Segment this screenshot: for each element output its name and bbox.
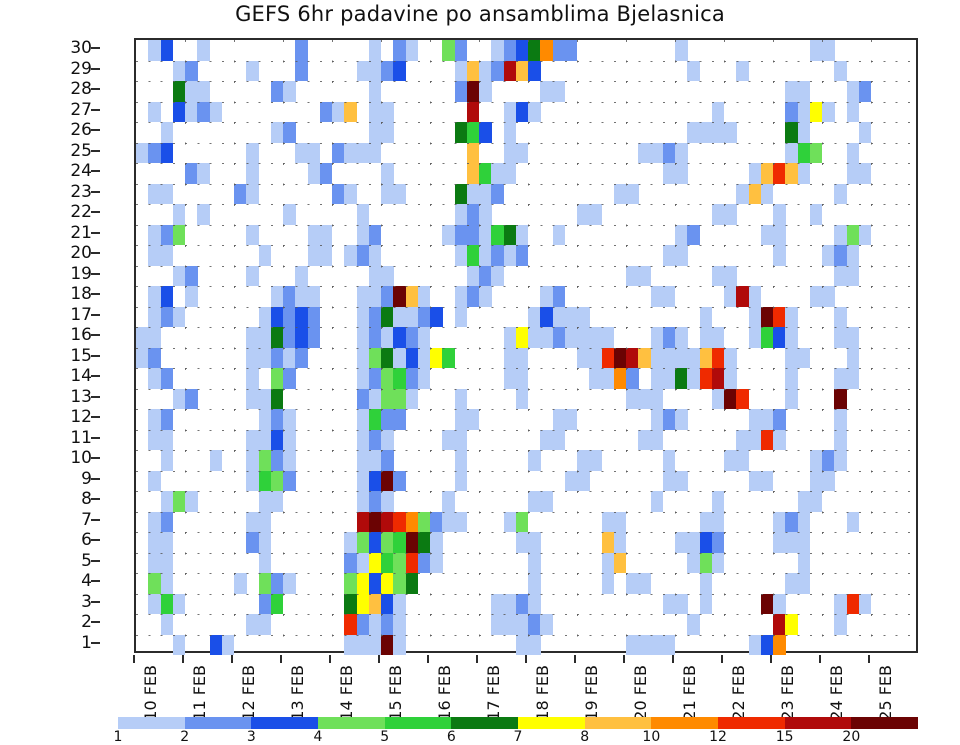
heatmap-cell <box>369 635 382 656</box>
heatmap-cell <box>246 143 259 164</box>
x-tick-mark <box>819 655 821 663</box>
heatmap-cell <box>161 307 174 328</box>
heatmap-cell <box>651 430 664 451</box>
heatmap-cell <box>700 553 713 574</box>
heatmap-cell <box>491 184 504 205</box>
heatmap-cell <box>516 225 529 246</box>
heatmap-cell <box>308 225 321 246</box>
heatmap-cell <box>357 594 370 615</box>
heatmap-cell <box>528 450 541 471</box>
heatmap-cell <box>516 532 529 553</box>
y-tick-label: 5 <box>32 551 92 571</box>
heatmap-cell <box>798 573 811 594</box>
heatmap-cell <box>259 532 272 553</box>
heatmap-cell <box>283 307 296 328</box>
heatmap-cell <box>406 286 419 307</box>
x-tick-mark <box>280 655 282 663</box>
heatmap-cell <box>185 491 198 512</box>
heatmap-cell <box>246 450 259 471</box>
heatmap-cell <box>614 553 627 574</box>
heatmap-cell <box>822 40 835 61</box>
heatmap-cell <box>344 614 357 635</box>
heatmap-cell <box>369 368 382 389</box>
heatmap-cell <box>344 184 357 205</box>
heatmap-cell <box>761 307 774 328</box>
heatmap-cell <box>540 286 553 307</box>
heatmap-cell <box>271 491 284 512</box>
heatmap-cell <box>161 122 174 143</box>
heatmap-cell <box>651 409 664 430</box>
y-tick-mark <box>91 355 100 357</box>
heatmap-cell <box>773 163 786 184</box>
heatmap-cell <box>271 286 284 307</box>
y-tick-label: 12 <box>32 407 92 427</box>
heatmap-cell <box>712 553 725 574</box>
heatmap-cell <box>773 430 786 451</box>
heatmap-cell <box>259 307 272 328</box>
x-tick-label: 16 FEB <box>435 665 454 721</box>
x-tick-mark <box>623 655 625 663</box>
heatmap-cell <box>834 368 847 389</box>
heatmap-cell <box>442 491 455 512</box>
heatmap-cell <box>822 450 835 471</box>
heatmap-cell <box>651 635 664 656</box>
heatmap-cell <box>369 409 382 430</box>
heatmap-cell <box>504 348 517 369</box>
heatmap-cell <box>283 286 296 307</box>
heatmap-cell <box>148 368 161 389</box>
heatmap-cell <box>785 532 798 553</box>
heatmap-cell <box>381 573 394 594</box>
heatmap-cell <box>638 635 651 656</box>
heatmap-cell <box>234 573 247 594</box>
heatmap-cell <box>761 430 774 451</box>
y-tick-mark <box>91 539 100 541</box>
colorbar-labels: 1234567810121520 <box>118 729 918 745</box>
heatmap-cell <box>651 491 664 512</box>
heatmap-cell <box>773 204 786 225</box>
y-tick-mark <box>91 580 100 582</box>
heatmap-cell <box>148 286 161 307</box>
heatmap-cell <box>430 348 443 369</box>
y-tick-mark <box>91 478 100 480</box>
heatmap-cell <box>773 614 786 635</box>
y-tick-label: 11 <box>32 428 92 448</box>
heatmap-cell <box>651 348 664 369</box>
heatmap-cell <box>344 245 357 266</box>
x-tick-label: 20 FEB <box>631 665 650 721</box>
y-tick-mark <box>91 293 100 295</box>
heatmap-cell <box>651 286 664 307</box>
heatmap-cell <box>393 532 406 553</box>
heatmap-cell <box>847 102 860 123</box>
heatmap-cell <box>185 286 198 307</box>
heatmap-cell <box>847 81 860 102</box>
heatmap-cell <box>834 430 847 451</box>
y-tick-label: 19 <box>32 264 92 284</box>
heatmap-cell <box>320 102 333 123</box>
heatmap-cell <box>736 61 749 82</box>
heatmap-cell <box>369 389 382 410</box>
heatmap-cell <box>148 143 161 164</box>
colorbar-segment <box>851 717 918 729</box>
heatmap-cell <box>700 368 713 389</box>
colorbar-tick-label: 8 <box>580 729 589 745</box>
heatmap-cell <box>283 430 296 451</box>
heatmap-cell <box>161 225 174 246</box>
heatmap-cell <box>308 143 321 164</box>
heatmap-cell <box>724 266 737 287</box>
heatmap-cell <box>295 40 308 61</box>
heatmap-cell <box>148 40 161 61</box>
heatmap-cell <box>357 491 370 512</box>
heatmap-cell <box>724 348 737 369</box>
heatmap-cell <box>565 327 578 348</box>
heatmap-cell <box>528 102 541 123</box>
heatmap-cell <box>283 348 296 369</box>
heatmap-cell <box>369 81 382 102</box>
heatmap-cell <box>271 573 284 594</box>
heatmap-cell <box>687 348 700 369</box>
heatmap-cell <box>418 307 431 328</box>
heatmap-cell <box>626 635 639 656</box>
heatmap-cell <box>369 245 382 266</box>
colorbar-segment <box>318 717 385 729</box>
x-tick-label: 18 FEB <box>533 665 552 721</box>
heatmap-cell <box>602 512 615 533</box>
heatmap-cell <box>687 225 700 246</box>
heatmap-cell <box>700 348 713 369</box>
y-tick-mark <box>91 232 100 234</box>
heatmap-cell <box>589 348 602 369</box>
y-tick-mark <box>91 334 100 336</box>
heatmap-cell <box>847 143 860 164</box>
heatmap-cell <box>185 61 198 82</box>
heatmap-cell <box>675 225 688 246</box>
heatmap-cell <box>455 81 468 102</box>
heatmap-cell <box>406 532 419 553</box>
heatmap-cell <box>161 286 174 307</box>
colorbar-segment <box>451 717 518 729</box>
heatmap-cell <box>271 471 284 492</box>
heatmap-cell <box>381 163 394 184</box>
heatmap-cell <box>773 594 786 615</box>
heatmap-cell <box>369 225 382 246</box>
heatmap-cell <box>148 512 161 533</box>
colorbar-segment <box>385 717 452 729</box>
heatmap-cell <box>381 471 394 492</box>
heatmap-cell <box>651 389 664 410</box>
heatmap-cell <box>540 327 553 348</box>
heatmap-cell <box>393 512 406 533</box>
heatmap-cell <box>577 204 590 225</box>
x-tick-mark <box>721 655 723 663</box>
heatmap-cell <box>663 409 676 430</box>
heatmap-cell <box>516 512 529 533</box>
heatmap-cell <box>491 40 504 61</box>
heatmap-cell <box>602 532 615 553</box>
heatmap-cell <box>418 286 431 307</box>
y-tick-label: 1 <box>32 633 92 653</box>
heatmap-cell <box>479 245 492 266</box>
heatmap-cell <box>197 204 210 225</box>
heatmap-cell <box>675 163 688 184</box>
y-tick-label: 9 <box>32 469 92 489</box>
heatmap-cell <box>773 245 786 266</box>
heatmap-cell <box>381 450 394 471</box>
heatmap-cell <box>357 204 370 225</box>
heatmap-cell <box>259 245 272 266</box>
heatmap-cell <box>246 471 259 492</box>
heatmap-cell <box>785 307 798 328</box>
heatmap-cell <box>246 368 259 389</box>
heatmap-cell <box>504 327 517 348</box>
heatmap-cell <box>295 143 308 164</box>
heatmap-cell <box>148 471 161 492</box>
heatmap-cell <box>749 307 762 328</box>
heatmap-cell <box>136 348 149 369</box>
heatmap-cell <box>393 471 406 492</box>
heatmap-cell <box>308 286 321 307</box>
heatmap-cell <box>418 327 431 348</box>
heatmap-cell <box>528 307 541 328</box>
heatmap-cell <box>724 389 737 410</box>
heatmap-cell <box>467 102 480 123</box>
heatmap-cell <box>381 368 394 389</box>
heatmap-cell <box>406 327 419 348</box>
heatmap-cell <box>700 327 713 348</box>
heatmap-cell <box>161 573 174 594</box>
heatmap-cell <box>455 204 468 225</box>
x-tick-label: 24 FEB <box>827 665 846 721</box>
heatmap-cell <box>455 225 468 246</box>
heatmap-cell <box>675 409 688 430</box>
x-tick-label: 10 FEB <box>141 665 160 721</box>
heatmap-cell <box>516 102 529 123</box>
colorbar-tick-label: 10 <box>642 729 660 745</box>
heatmap-cell <box>467 163 480 184</box>
heatmap-cell <box>553 40 566 61</box>
heatmap-cell <box>381 61 394 82</box>
heatmap-cell <box>161 430 174 451</box>
y-tick-mark <box>91 170 100 172</box>
heatmap-cell <box>271 327 284 348</box>
heatmap-cell <box>749 327 762 348</box>
heatmap-cell <box>638 348 651 369</box>
heatmap-cell <box>810 40 823 61</box>
heatmap-cell <box>467 122 480 143</box>
heatmap-cell <box>638 430 651 451</box>
heatmap-cell <box>381 635 394 656</box>
heatmap-cell <box>259 430 272 451</box>
y-tick-label: 6 <box>32 530 92 550</box>
heatmap-cell <box>504 225 517 246</box>
heatmap-cell <box>540 430 553 451</box>
heatmap-cell <box>418 553 431 574</box>
heatmap-cell <box>357 245 370 266</box>
heatmap-cell <box>736 430 749 451</box>
heatmap-cell <box>761 163 774 184</box>
heatmap-cell <box>430 553 443 574</box>
heatmap-cell <box>369 614 382 635</box>
heatmap-cell <box>148 553 161 574</box>
heatmap-cell <box>798 491 811 512</box>
colorbar-tick-label: 12 <box>709 729 727 745</box>
heatmap-cell <box>663 594 676 615</box>
x-tick-mark <box>182 655 184 663</box>
heatmap-cell <box>455 512 468 533</box>
heatmap-cell <box>455 61 468 82</box>
colorbar-segment <box>185 717 252 729</box>
heatmap-cell <box>393 61 406 82</box>
heatmap-plot[interactable] <box>134 38 918 653</box>
heatmap-cell <box>259 450 272 471</box>
heatmap-cell <box>785 512 798 533</box>
heatmap-cell <box>455 40 468 61</box>
heatmap-cell <box>197 81 210 102</box>
heatmap-cell <box>381 286 394 307</box>
heatmap-cell <box>700 532 713 553</box>
heatmap-cell <box>332 102 345 123</box>
heatmap-cell <box>259 553 272 574</box>
heatmap-cell <box>712 368 725 389</box>
heatmap-cell <box>369 266 382 287</box>
heatmap-cell <box>161 143 174 164</box>
heatmap-cell <box>369 102 382 123</box>
heatmap-cell <box>785 143 798 164</box>
y-tick-label: 27 <box>32 100 92 120</box>
heatmap-cell <box>773 532 786 553</box>
heatmap-cell <box>357 614 370 635</box>
heatmap-cell <box>161 491 174 512</box>
colorbar <box>118 717 918 729</box>
heatmap-cell <box>357 532 370 553</box>
heatmap-cell <box>442 225 455 246</box>
heatmap-cell <box>344 594 357 615</box>
y-tick-mark <box>91 621 100 623</box>
heatmap-cell <box>455 450 468 471</box>
heatmap-cell <box>357 368 370 389</box>
heatmap-cell <box>430 307 443 328</box>
heatmap-cell <box>785 122 798 143</box>
x-tick-label: 11 FEB <box>190 665 209 721</box>
y-tick-label: 2 <box>32 612 92 632</box>
heatmap-cell <box>369 327 382 348</box>
heatmap-cell <box>528 61 541 82</box>
heatmap-cell <box>516 348 529 369</box>
x-tick-mark <box>672 655 674 663</box>
heatmap-cell <box>259 389 272 410</box>
heatmap-cell <box>161 368 174 389</box>
heatmap-cell <box>467 61 480 82</box>
heatmap-cell <box>357 307 370 328</box>
heatmap-cell <box>626 368 639 389</box>
heatmap-cell <box>246 61 259 82</box>
heatmap-cell <box>393 184 406 205</box>
heatmap-cell <box>687 532 700 553</box>
heatmap-cell <box>271 307 284 328</box>
heatmap-cell <box>271 430 284 451</box>
heatmap-cell <box>577 307 590 328</box>
heatmap-cell <box>271 409 284 430</box>
heatmap-cell <box>761 184 774 205</box>
x-tick-label: 13 FEB <box>288 665 307 721</box>
heatmap-cell <box>161 40 174 61</box>
heatmap-cell <box>724 286 737 307</box>
heatmap-cell <box>381 122 394 143</box>
heatmap-cell <box>700 594 713 615</box>
y-tick-mark <box>91 47 100 49</box>
heatmap-cell <box>381 348 394 369</box>
heatmap-cell <box>749 409 762 430</box>
heatmap-cell <box>516 143 529 164</box>
heatmap-cell <box>847 266 860 287</box>
heatmap-cell <box>442 512 455 533</box>
heatmap-cell <box>822 102 835 123</box>
heatmap-cell <box>418 512 431 533</box>
heatmap-cell <box>369 348 382 369</box>
heatmap-cell <box>504 102 517 123</box>
heatmap-cell <box>393 573 406 594</box>
heatmap-cell <box>516 61 529 82</box>
heatmap-cell <box>357 450 370 471</box>
heatmap-cell <box>516 40 529 61</box>
heatmap-cell <box>271 348 284 369</box>
heatmap-cell <box>810 471 823 492</box>
heatmap-cell <box>565 409 578 430</box>
heatmap-cell <box>847 327 860 348</box>
heatmap-cell <box>197 163 210 184</box>
heatmap-cell <box>553 430 566 451</box>
heatmap-cell <box>173 594 186 615</box>
heatmap-cell <box>822 471 835 492</box>
heatmap-cell <box>516 368 529 389</box>
colorbar-segment <box>585 717 652 729</box>
y-tick-label: 14 <box>32 366 92 386</box>
heatmap-cell <box>406 512 419 533</box>
heatmap-cell <box>528 594 541 615</box>
heatmap-cell <box>736 286 749 307</box>
heatmap-cell <box>565 40 578 61</box>
heatmap-cell <box>148 225 161 246</box>
heatmap-cell <box>467 245 480 266</box>
heatmap-cell <box>308 245 321 266</box>
heatmap-cell <box>626 348 639 369</box>
heatmap-cell <box>761 594 774 615</box>
y-tick-label: 13 <box>32 387 92 407</box>
heatmap-cell <box>614 512 627 533</box>
colorbar-tick-label: 6 <box>447 729 456 745</box>
heatmap-cell <box>369 286 382 307</box>
heatmap-cell <box>185 266 198 287</box>
heatmap-cell <box>357 143 370 164</box>
heatmap-cell <box>283 368 296 389</box>
heatmap-cell <box>749 286 762 307</box>
heatmap-cell <box>259 348 272 369</box>
heatmap-cell <box>393 614 406 635</box>
heatmap-cell <box>455 430 468 451</box>
heatmap-cell <box>369 553 382 574</box>
heatmap-cell <box>736 389 749 410</box>
heatmap-cell <box>283 573 296 594</box>
y-tick-label: 29 <box>32 59 92 79</box>
heatmap-cell <box>785 327 798 348</box>
heatmap-cell <box>197 40 210 61</box>
heatmap-cell <box>357 61 370 82</box>
heatmap-cell <box>687 553 700 574</box>
heatmap-cell <box>320 245 333 266</box>
heatmap-cell <box>798 163 811 184</box>
